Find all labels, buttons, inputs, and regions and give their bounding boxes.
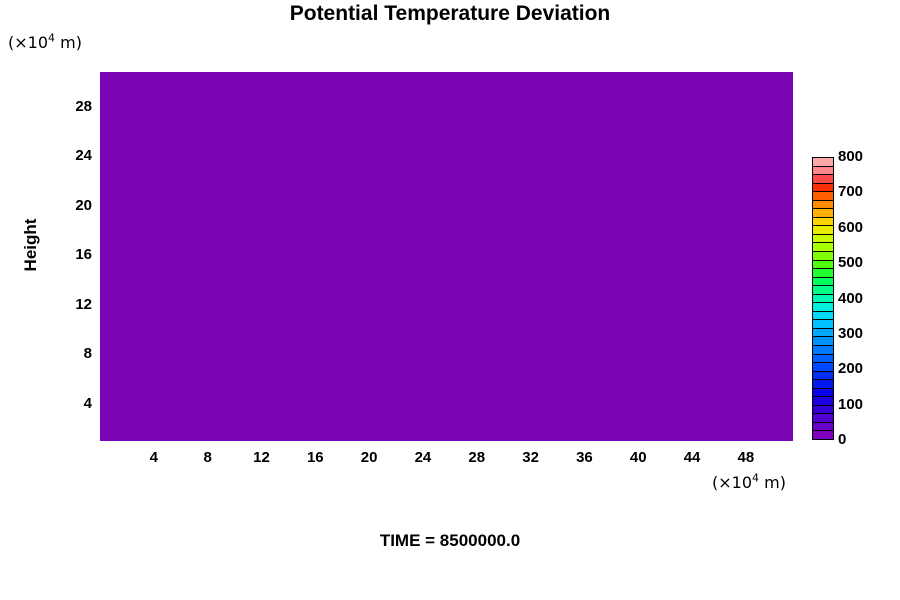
colorbar-tick-label: 500 — [838, 254, 863, 271]
colorbar-band — [813, 312, 833, 321]
y-axis-tick-label: 12 — [52, 296, 92, 313]
x-axis-tick-label: 16 — [295, 449, 335, 466]
x-axis-tick-label: 12 — [241, 449, 281, 466]
heatmap-plot-area — [100, 72, 793, 441]
y-axis-tick-label: 8 — [52, 345, 92, 362]
colorbar-band — [813, 303, 833, 312]
x-axis-tick-group: 4812162024283236404448 — [100, 449, 793, 471]
x-axis-tick-label: 28 — [457, 449, 497, 466]
colorbar-band — [813, 363, 833, 372]
y-axis-units-label: (×104 m) — [8, 33, 82, 52]
x-axis-tick-label: 24 — [403, 449, 443, 466]
colorbar-band — [813, 320, 833, 329]
colorbar-band — [813, 158, 833, 167]
y-axis-tick-label: 16 — [52, 246, 92, 263]
colorbar-band — [813, 184, 833, 193]
y-axis-tick-label: 24 — [52, 147, 92, 164]
colorbar-tick-label: 700 — [838, 183, 863, 200]
colorbar-tick-label: 400 — [838, 290, 863, 307]
x-axis-tick-label: 36 — [564, 449, 604, 466]
page-title: Potential Temperature Deviation — [0, 2, 900, 26]
x-axis-tick-label: 20 — [349, 449, 389, 466]
y-axis-tick-label: 28 — [52, 98, 92, 115]
colorbar-band — [813, 286, 833, 295]
colorbar-band — [813, 380, 833, 389]
colorbar-band — [813, 337, 833, 346]
colorbar-tick-label: 300 — [838, 325, 863, 342]
colorbar-band — [813, 431, 833, 439]
colorbar-band — [813, 243, 833, 252]
y-axis-tick-group: 481216202428 — [46, 72, 92, 441]
time-annotation: TIME = 8500000.0 — [0, 531, 900, 551]
colorbar-tick-label: 800 — [838, 148, 863, 165]
colorbar-band — [813, 235, 833, 244]
x-axis-tick-label: 32 — [511, 449, 551, 466]
colorbar-tick-label: 600 — [838, 219, 863, 236]
colorbar-band — [813, 226, 833, 235]
colorbar-band — [813, 278, 833, 287]
colorbar-band — [813, 218, 833, 227]
colorbar-band — [813, 423, 833, 432]
colorbar-swatches — [812, 157, 834, 440]
colorbar-band — [813, 269, 833, 278]
x-axis-tick-label: 48 — [726, 449, 766, 466]
x-axis-tick-label: 44 — [672, 449, 712, 466]
colorbar-band — [813, 261, 833, 270]
x-axis-tick-label: 8 — [188, 449, 228, 466]
colorbar-band — [813, 397, 833, 406]
x-axis-tick-label: 4 — [134, 449, 174, 466]
colorbar-band — [813, 346, 833, 355]
x-axis-tick-label: 40 — [618, 449, 658, 466]
temperature-field-image — [100, 72, 793, 441]
colorbar-band — [813, 201, 833, 210]
y-axis-tick-label: 4 — [52, 395, 92, 412]
y-axis-title: Height — [21, 190, 41, 300]
colorbar-band — [813, 355, 833, 364]
colorbar: 0100200300400500600700800 — [812, 157, 834, 440]
colorbar-band — [813, 372, 833, 381]
y-axis-tick-label: 20 — [52, 197, 92, 214]
colorbar-band — [813, 252, 833, 261]
colorbar-band — [813, 406, 833, 415]
colorbar-band — [813, 414, 833, 423]
figure-canvas: Potential Temperature Deviation (×104 m)… — [0, 0, 900, 600]
colorbar-tick-group: 0100200300400500600700800 — [838, 157, 898, 440]
colorbar-band — [813, 329, 833, 338]
colorbar-band — [813, 167, 833, 176]
colorbar-tick-label: 100 — [838, 396, 863, 413]
colorbar-tick-label: 200 — [838, 360, 863, 377]
colorbar-band — [813, 192, 833, 201]
x-axis-units-label: (×104 m) — [712, 473, 786, 492]
colorbar-band — [813, 175, 833, 184]
colorbar-band — [813, 389, 833, 398]
colorbar-tick-label: 0 — [838, 431, 846, 448]
colorbar-band — [813, 209, 833, 218]
colorbar-band — [813, 295, 833, 304]
